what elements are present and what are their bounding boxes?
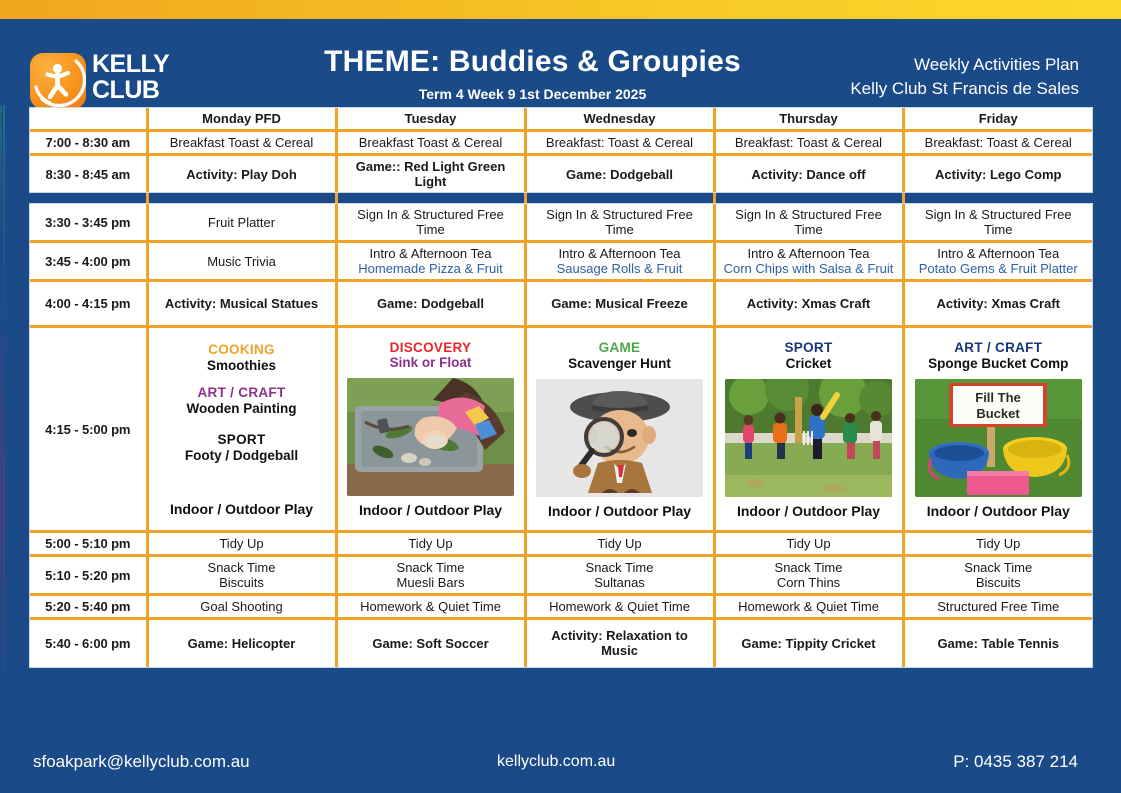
table-row: 4:00 - 4:15 pm Activity: Musical Statues… <box>30 281 1092 327</box>
category-label: SPORT <box>722 340 896 355</box>
svg-text:Fill The: Fill The <box>975 390 1021 405</box>
contact-phone: P: 0435 387 214 <box>953 752 1078 772</box>
cell-monday: Fruit Platter <box>147 204 336 242</box>
cell-wednesday: Intro & Afternoon Tea Sausage Rolls & Fr… <box>525 242 714 281</box>
activity-title: Sponge Bucket Comp <box>911 356 1087 371</box>
day-header-blank <box>30 108 147 131</box>
cell-thursday: Snack Time Corn Thins <box>714 556 903 595</box>
cell-monday: Tidy Up <box>147 532 336 556</box>
cell-monday: Goal Shooting <box>147 595 336 619</box>
table-row: 5:20 - 5:40 pm Goal Shooting Homework & … <box>30 595 1092 619</box>
cell-thursday: Breakfast: Toast & Cereal <box>714 131 903 155</box>
time-label: 4:00 - 4:15 pm <box>30 281 147 327</box>
cell-thursday: Homework & Quiet Time <box>714 595 903 619</box>
cell-tuesday: Homework & Quiet Time <box>336 595 525 619</box>
cell-line-1: Music Trivia <box>207 254 276 269</box>
main-activity-row: 4:15 - 5:00 pm COOKING Smoothies ART / C… <box>30 327 1092 532</box>
activity-title: Scavenger Hunt <box>533 356 707 371</box>
logo-line-1: KELLY <box>92 51 169 77</box>
theme-block: THEME: Buddies & Groupies Term 4 Week 9 … <box>260 45 805 102</box>
cell-line-1: Intro & Afternoon Tea <box>937 246 1059 261</box>
cell-thursday: Activity: Dance off <box>714 155 903 193</box>
morning-table: Monday PFD Tuesday Wednesday Thursday Fr… <box>30 108 1092 192</box>
child-sensory-tray-water-play-photo <box>347 378 514 496</box>
cell-wednesday: Homework & Quiet Time <box>525 595 714 619</box>
club-location-label: Kelly Club St Francis de Sales <box>850 77 1079 101</box>
logo-line-2: CLUB <box>92 77 169 103</box>
time-label: 5:20 - 5:40 pm <box>30 595 147 619</box>
cell-thursday: Activity: Xmas Craft <box>714 281 903 327</box>
cell-line-2: Sultanas <box>594 575 645 590</box>
category-label: SPORT <box>155 432 329 447</box>
play-footer-label: Indoor / Outdoor Play <box>533 503 707 519</box>
day-header-friday: Friday <box>903 108 1092 131</box>
play-footer-label: Indoor / Outdoor Play <box>911 503 1087 519</box>
cell-tuesday: Snack Time Muesli Bars <box>336 556 525 595</box>
activity-title: Cricket <box>722 356 896 371</box>
category-label: ART / CRAFT <box>155 385 329 400</box>
cell-monday: Game: Helicopter <box>147 619 336 667</box>
cell-line-1: Intro & Afternoon Tea <box>370 246 492 261</box>
cell-thursday: Sign In & Structured Free Time <box>714 204 903 242</box>
cell-line-1: Intro & Afternoon Tea <box>748 246 870 261</box>
section-gap-strip <box>29 193 1093 203</box>
cell-friday: Structured Free Time <box>903 595 1092 619</box>
cell-thursday: Tidy Up <box>714 532 903 556</box>
cell-tuesday: Game:: Red Light Green Light <box>336 155 525 193</box>
cell-wednesday: Activity: Relaxation to Music <box>525 619 714 667</box>
cell-tuesday: Game: Soft Soccer <box>336 619 525 667</box>
cell-friday: Snack Time Biscuits <box>903 556 1092 595</box>
svg-text:Bucket: Bucket <box>976 406 1020 421</box>
theme-title: THEME: Buddies & Groupies <box>260 45 805 79</box>
plan-type-label: Weekly Activities Plan <box>850 53 1079 77</box>
main-cell-wednesday: GAME Scavenger Hunt <box>525 327 714 532</box>
cell-line-1: Snack Time <box>208 560 276 575</box>
time-label: 5:10 - 5:20 pm <box>30 556 147 595</box>
cell-friday: Breakfast: Toast & Cereal <box>903 131 1092 155</box>
header-right-info: Weekly Activities Plan Kelly Club St Fra… <box>850 53 1079 101</box>
cell-tuesday: Tidy Up <box>336 532 525 556</box>
cell-line-2: Biscuits <box>976 575 1021 590</box>
table-row: 5:10 - 5:20 pm Snack Time Biscuits Snack… <box>30 556 1092 595</box>
cell-monday: Breakfast Toast & Cereal <box>147 131 336 155</box>
table-row: 3:30 - 3:45 pm Fruit Platter Sign In & S… <box>30 204 1092 242</box>
morning-band: Monday PFD Tuesday Wednesday Thursday Fr… <box>29 107 1093 193</box>
play-footer-label: Indoor / Outdoor Play <box>722 503 896 519</box>
play-footer-label: Indoor / Outdoor Play <box>344 502 518 518</box>
contact-email[interactable]: sfoakpark@kellyclub.com.au <box>33 752 250 772</box>
day-header-tuesday: Tuesday <box>336 108 525 131</box>
cell-line-2: Biscuits <box>219 575 264 590</box>
cell-friday: Activity: Xmas Craft <box>903 281 1092 327</box>
cell-tuesday: Intro & Afternoon Tea Homemade Pizza & F… <box>336 242 525 281</box>
cell-line-1: Snack Time <box>397 560 465 575</box>
time-label: 8:30 - 8:45 am <box>30 155 147 193</box>
cell-line-1: Snack Time <box>586 560 654 575</box>
cell-wednesday: Tidy Up <box>525 532 714 556</box>
top-gold-bar <box>0 0 1121 19</box>
afternoon-table: 3:30 - 3:45 pm Fruit Platter Sign In & S… <box>30 204 1092 667</box>
edge-artifact-left <box>0 19 2 793</box>
category-label: DISCOVERY <box>344 340 518 355</box>
cell-wednesday: Breakfast: Toast & Cereal <box>525 131 714 155</box>
day-header-monday: Monday PFD <box>147 108 336 131</box>
table-row: 3:45 - 4:00 pm Music Trivia Intro & Afte… <box>30 242 1092 281</box>
weekly-activities-plan-poster: KELLY CLUB THEME: Buddies & Groupies Ter… <box>0 0 1121 793</box>
time-label: 3:30 - 3:45 pm <box>30 204 147 242</box>
category-label: GAME <box>533 340 707 355</box>
cell-friday: Sign In & Structured Free Time <box>903 204 1092 242</box>
cell-tuesday: Sign In & Structured Free Time <box>336 204 525 242</box>
cell-line-2: Corn Chips with Salsa & Fruit <box>722 261 896 276</box>
day-header-wednesday: Wednesday <box>525 108 714 131</box>
cell-monday: Activity: Play Doh <box>147 155 336 193</box>
cell-line-2: Corn Thins <box>777 575 840 590</box>
cell-monday: Music Trivia <box>147 242 336 281</box>
category-label: COOKING <box>155 342 329 357</box>
cell-line-2: Muesli Bars <box>397 575 465 590</box>
time-label: 3:45 - 4:00 pm <box>30 242 147 281</box>
cell-friday: Game: Table Tennis <box>903 619 1092 667</box>
cell-friday: Activity: Lego Comp <box>903 155 1092 193</box>
kelly-club-wordmark: KELLY CLUB <box>92 51 169 103</box>
cell-line-1: Intro & Afternoon Tea <box>559 246 681 261</box>
cell-line-1: Snack Time <box>775 560 843 575</box>
cell-tuesday: Game: Dodgeball <box>336 281 525 327</box>
kelly-club-running-figure-icon <box>30 53 86 109</box>
cell-wednesday: Sign In & Structured Free Time <box>525 204 714 242</box>
poster-header: KELLY CLUB THEME: Buddies & Groupies Ter… <box>0 19 1121 105</box>
activity-title: Smoothies <box>155 358 329 373</box>
fill-the-bucket-sign-with-buckets-photo: Fill The Bucket <box>915 379 1082 497</box>
table-row: 8:30 - 8:45 am Activity: Play Doh Game::… <box>30 155 1092 193</box>
main-cell-tuesday: DISCOVERY Sink or Float <box>336 327 525 532</box>
poster-footer: sfoakpark@kellyclub.com.au kellyclub.com… <box>0 736 1121 793</box>
table-row: 5:00 - 5:10 pm Tidy Up Tidy Up Tidy Up T… <box>30 532 1092 556</box>
cell-friday: Intro & Afternoon Tea Potato Gems & Frui… <box>903 242 1092 281</box>
table-row: 7:00 - 8:30 am Breakfast Toast & Cereal … <box>30 131 1092 155</box>
kelly-club-logo: KELLY CLUB <box>30 51 180 113</box>
cell-line-2: Sausage Rolls & Fruit <box>533 261 707 276</box>
cell-thursday: Intro & Afternoon Tea Corn Chips with Sa… <box>714 242 903 281</box>
cell-line-1: Snack Time <box>964 560 1032 575</box>
afternoon-band: 3:30 - 3:45 pm Fruit Platter Sign In & S… <box>29 203 1093 668</box>
schedule-grid: Monday PFD Tuesday Wednesday Thursday Fr… <box>29 107 1093 668</box>
edge-artifact-left-2 <box>3 19 5 793</box>
website-url[interactable]: kellyclub.com.au <box>497 753 615 771</box>
day-header-thursday: Thursday <box>714 108 903 131</box>
cell-monday: Activity: Musical Statues <box>147 281 336 327</box>
cell-line-2: Homemade Pizza & Fruit <box>344 261 518 276</box>
play-footer-label: Indoor / Outdoor Play <box>155 501 329 517</box>
theme-subtitle: Term 4 Week 9 1st December 2025 <box>260 86 805 102</box>
main-cell-thursday: SPORT Cricket <box>714 327 903 532</box>
table-row: 5:40 - 6:00 pm Game: Helicopter Game: So… <box>30 619 1092 667</box>
time-label: 4:15 - 5:00 pm <box>30 327 147 532</box>
children-playing-cricket-outdoors-photo <box>725 379 892 497</box>
day-header-row: Monday PFD Tuesday Wednesday Thursday Fr… <box>30 108 1092 131</box>
activity-title: Wooden Painting <box>155 401 329 416</box>
cell-wednesday: Game: Musical Freeze <box>525 281 714 327</box>
cell-thursday: Game: Tippity Cricket <box>714 619 903 667</box>
time-label: 5:40 - 6:00 pm <box>30 619 147 667</box>
time-label: 5:00 - 5:10 pm <box>30 532 147 556</box>
activity-title: Footy / Dodgeball <box>155 448 329 463</box>
cell-wednesday: Game: Dodgeball <box>525 155 714 193</box>
cell-line-2: Potato Gems & Fruit Platter <box>911 261 1087 276</box>
main-cell-monday: COOKING Smoothies ART / CRAFT Wooden Pai… <box>147 327 336 532</box>
cell-monday: Snack Time Biscuits <box>147 556 336 595</box>
cell-friday: Tidy Up <box>903 532 1092 556</box>
activity-title: Sink or Float <box>344 355 518 370</box>
time-label: 7:00 - 8:30 am <box>30 131 147 155</box>
category-label: ART / CRAFT <box>911 340 1087 355</box>
cell-tuesday: Breakfast Toast & Cereal <box>336 131 525 155</box>
detective-with-magnifying-glass-cartoon <box>536 379 703 497</box>
cell-wednesday: Snack Time Sultanas <box>525 556 714 595</box>
main-cell-friday: ART / CRAFT Sponge Bucket Comp Fill The … <box>903 327 1092 532</box>
